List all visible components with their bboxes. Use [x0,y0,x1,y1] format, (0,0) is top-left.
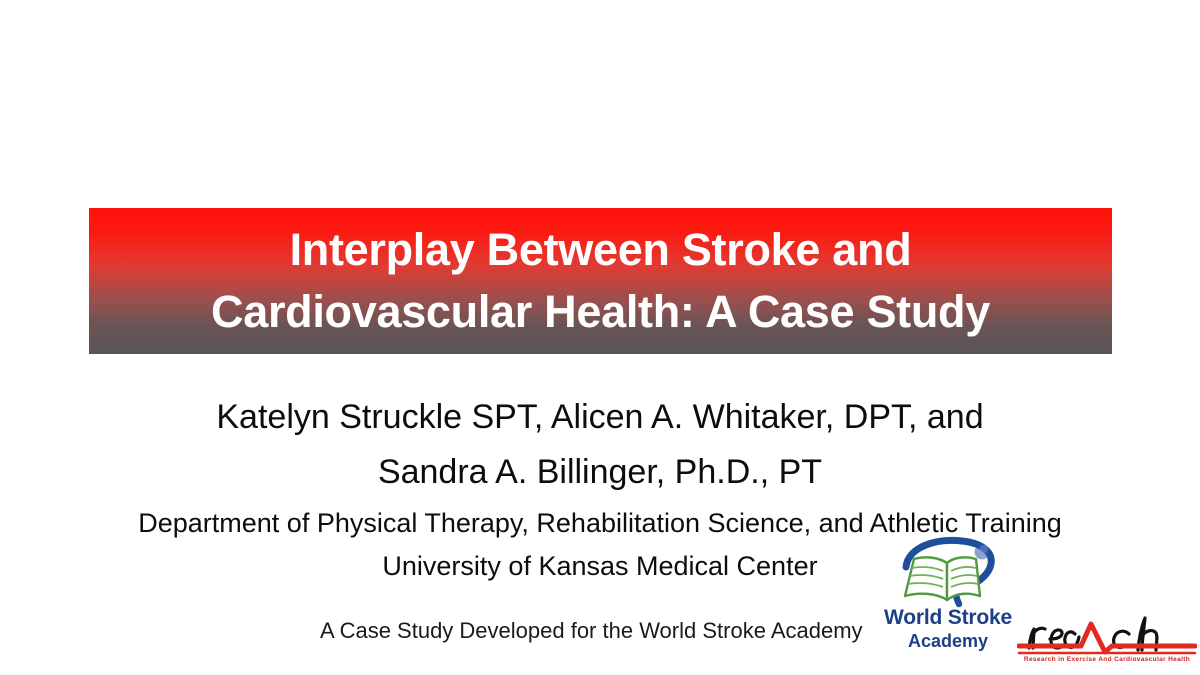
author-block: Katelyn Struckle SPT, Alicen A. Whitaker… [0,390,1200,500]
title-banner: Interplay Between Stroke and Cardiovascu… [89,208,1112,354]
title-line-1: Interplay Between Stroke and [290,219,912,281]
author-line-1: Katelyn Struckle SPT, Alicen A. Whitaker… [0,390,1200,445]
reach-logo: Research in Exercise And Cardiovascular … [1017,612,1197,674]
affiliation-block: Department of Physical Therapy, Rehabili… [0,502,1200,588]
world-stroke-academy-subtitle: Academy [878,631,1018,652]
affiliation-department: Department of Physical Therapy, Rehabili… [0,502,1200,545]
reach-tagline: Research in Exercise And Cardiovascular … [1017,656,1197,663]
presentation-slide: Interplay Between Stroke and Cardiovascu… [0,0,1200,675]
reach-wordmark-icon [1017,612,1197,656]
title-line-2: Cardiovascular Health: A Case Study [211,281,990,343]
author-line-2: Sandra A. Billinger, Ph.D., PT [0,445,1200,500]
world-stroke-academy-logo: World Stroke Academy [878,536,1018,656]
footer-caption: A Case Study Developed for the World Str… [320,618,863,644]
open-book-with-swoosh-icon [892,536,1004,608]
world-stroke-academy-name: World Stroke [878,606,1018,630]
affiliation-institution: University of Kansas Medical Center [0,545,1200,588]
